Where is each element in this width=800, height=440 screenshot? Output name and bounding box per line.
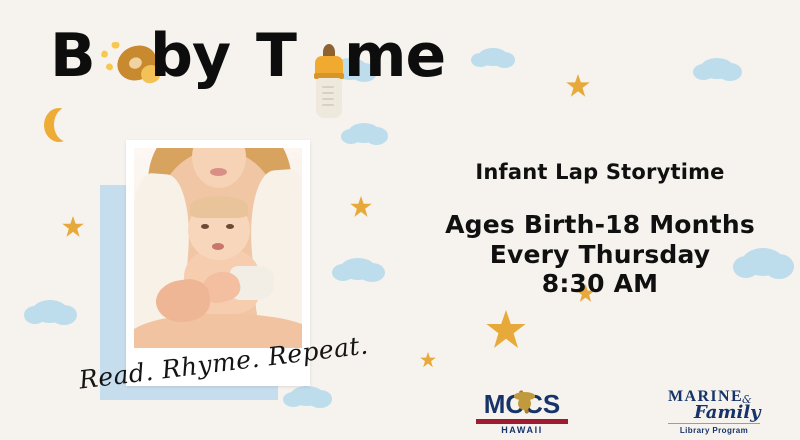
star-icon xyxy=(350,196,372,218)
marine-family-library-logo: MARINE & Family Library Program xyxy=(668,388,760,436)
star-icon xyxy=(566,74,590,98)
star-icon xyxy=(62,216,84,238)
event-day: Every Thursday xyxy=(430,240,770,270)
cloud-icon xyxy=(478,48,508,66)
baby-time-poster: B by T me xyxy=(0,0,800,440)
crescent-moon-icon xyxy=(44,108,74,142)
mccs-location: HAWAII xyxy=(476,425,568,435)
title-segment-me: me xyxy=(344,26,445,86)
mccs-hawaii-logo: MCCS HAWAII xyxy=(476,391,568,435)
event-time: 8:30 AM xyxy=(430,269,770,299)
baby-bottle-icon xyxy=(312,44,346,118)
eagle-globe-anchor-icon xyxy=(514,390,534,415)
library-program-label: Library Program xyxy=(668,426,760,435)
cloud-icon xyxy=(348,123,380,143)
program-name: Infant Lap Storytime xyxy=(430,160,770,184)
bottle-body xyxy=(316,78,342,118)
title-segment-b: B xyxy=(50,26,95,86)
title-segment-t: T xyxy=(256,26,296,86)
cloud-icon xyxy=(700,58,734,79)
photo-image xyxy=(134,148,302,348)
title-segment-by: by xyxy=(150,26,230,86)
cloud-icon xyxy=(32,300,68,323)
pacifier-shield-hole xyxy=(127,56,143,71)
age-range: Ages Birth-18 Months xyxy=(430,210,770,240)
family-wordmark: Family xyxy=(694,402,761,423)
cloud-icon xyxy=(340,258,376,280)
event-details: Infant Lap Storytime Ages Birth-18 Month… xyxy=(430,160,770,299)
page-title: B by T me xyxy=(44,18,464,98)
star-icon xyxy=(420,352,436,368)
mccs-divider-bar xyxy=(476,419,568,424)
star-icon xyxy=(486,310,526,350)
logo-divider xyxy=(668,423,760,424)
cloud-icon xyxy=(290,386,324,406)
